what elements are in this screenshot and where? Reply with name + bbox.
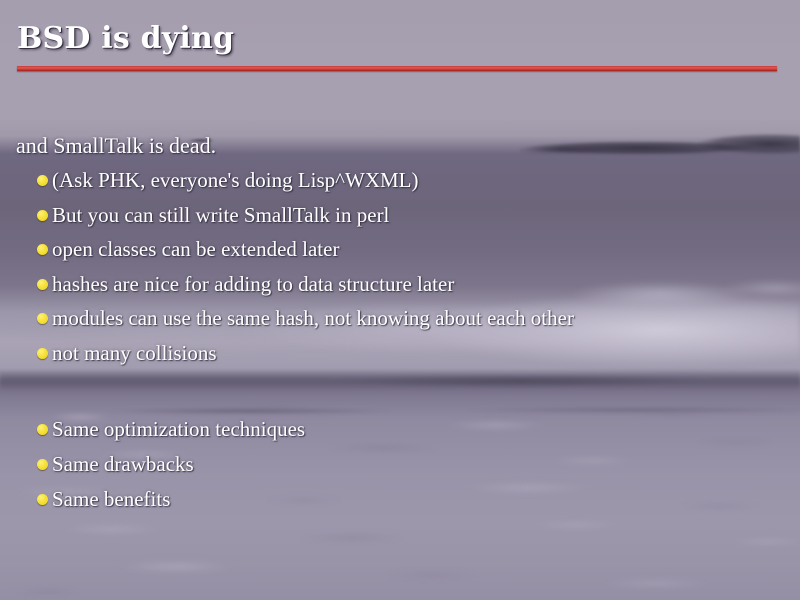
- list-item: (Ask PHK, everyone's doing Lisp^WXML): [0, 163, 752, 198]
- list-item-label: Same drawbacks: [52, 452, 194, 476]
- list-item-label: open classes can be extended later: [52, 237, 339, 261]
- bullet-group-spacer: [0, 370, 800, 412]
- list-item: not many collisions: [0, 336, 752, 371]
- list-item: open classes can be extended later: [0, 232, 752, 267]
- bullet-dot-icon: [37, 348, 48, 359]
- page-title: BSD is dying: [17, 22, 234, 56]
- bullet-list-primary: (Ask PHK, everyone's doing Lisp^WXML) Bu…: [0, 163, 800, 370]
- list-item: Same drawbacks: [0, 447, 752, 482]
- list-item-label: (Ask PHK, everyone's doing Lisp^WXML): [52, 168, 419, 192]
- bullet-dot-icon: [37, 459, 48, 470]
- bullet-dot-icon: [37, 279, 48, 290]
- bullet-dot-icon: [37, 175, 48, 186]
- list-item: modules can use the same hash, not knowi…: [0, 301, 752, 336]
- list-item: hashes are nice for adding to data struc…: [0, 267, 752, 302]
- presentation-slide: BSD is dying and SmallTalk is dead. (Ask…: [0, 0, 800, 600]
- bullet-dot-icon: [37, 424, 48, 435]
- list-item-label: hashes are nice for adding to data struc…: [52, 272, 454, 296]
- bullet-dot-icon: [37, 313, 48, 324]
- list-item: But you can still write SmallTalk in per…: [0, 198, 752, 233]
- lead-paragraph: and SmallTalk is dead.: [0, 128, 800, 163]
- list-item-label: But you can still write SmallTalk in per…: [52, 203, 389, 227]
- bullet-dot-icon: [37, 210, 48, 221]
- bullet-list-secondary: Same optimization techniques Same drawba…: [0, 412, 800, 517]
- list-item-label: Same benefits: [52, 487, 170, 511]
- bullet-dot-icon: [37, 494, 48, 505]
- bullet-dot-icon: [37, 244, 48, 255]
- list-item-label: modules can use the same hash, not knowi…: [52, 306, 574, 330]
- list-item: Same optimization techniques: [0, 412, 752, 447]
- list-item-label: not many collisions: [52, 341, 217, 365]
- list-item: Same benefits: [0, 482, 752, 517]
- slide-body: and SmallTalk is dead. (Ask PHK, everyon…: [0, 128, 800, 517]
- list-item-label: Same optimization techniques: [52, 417, 305, 441]
- title-underline-rule: [17, 66, 777, 71]
